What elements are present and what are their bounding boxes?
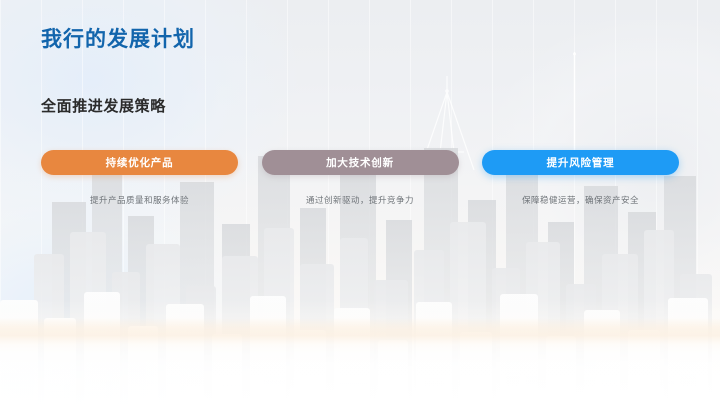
pillar-pill-risk-management[interactable]: 提升风险管理 <box>482 150 679 175</box>
horizon-warm-band <box>0 318 720 352</box>
strategy-pillars: 持续优化产品 提升产品质量和服务体验 加大技术创新 通过创新驱动，提升竞争力 提… <box>41 150 679 207</box>
pillar-item-1: 持续优化产品 提升产品质量和服务体验 <box>41 150 238 207</box>
pillar-description-1: 提升产品质量和服务体验 <box>90 195 189 207</box>
pillar-item-3: 提升风险管理 保障稳健运营，确保资产安全 <box>482 150 679 207</box>
horizon-haze <box>0 300 720 404</box>
pillar-description-3: 保障稳健运营，确保资产安全 <box>522 195 639 207</box>
pillar-pill-tech-innovation[interactable]: 加大技术创新 <box>262 150 459 175</box>
pillar-description-2: 通过创新驱动，提升竞争力 <box>306 195 414 207</box>
slide-canvas: 我行的发展计划 全面推进发展策略 持续优化产品 提升产品质量和服务体验 加大技术… <box>0 0 720 404</box>
background-cityscape <box>0 104 720 404</box>
slide-subtitle: 全面推进发展策略 <box>41 99 166 114</box>
background-spire-icon <box>573 52 576 152</box>
pillar-pill-optimize-products[interactable]: 持续优化产品 <box>41 150 238 175</box>
pillar-item-2: 加大技术创新 通过创新驱动，提升竞争力 <box>262 150 459 207</box>
page-title: 我行的发展计划 <box>41 29 195 50</box>
